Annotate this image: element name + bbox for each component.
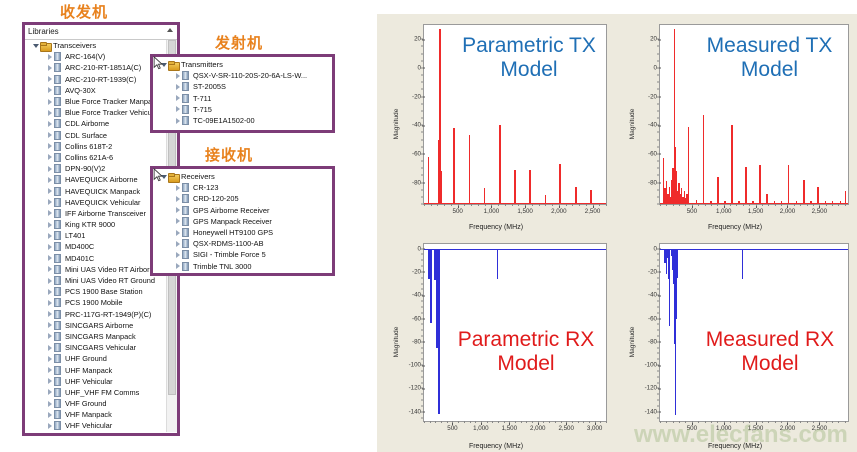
chevron-right-icon[interactable]	[45, 300, 54, 306]
tree-root-transceivers[interactable]: Transceivers	[25, 40, 166, 51]
y-axis-minor-tick	[421, 359, 423, 360]
tree-root-receivers[interactable]: Receivers	[153, 171, 332, 182]
data-spike	[529, 170, 530, 204]
tree-item-label: Collins 618T-2	[65, 141, 112, 152]
chevron-right-icon[interactable]	[173, 252, 182, 258]
x-axis-minor-tick	[559, 204, 560, 206]
tree-item-receiver[interactable]: GPS Manpack Receiver	[153, 216, 332, 227]
y-axis-tick-label: 20	[414, 36, 421, 43]
chart-ylabel: Magnitude	[393, 108, 400, 139]
tree-item-transceiver[interactable]: UHF_VHF FM Comms	[25, 387, 166, 398]
chevron-right-icon[interactable]	[173, 73, 182, 79]
x-axis-minor-tick	[504, 421, 505, 423]
y-axis-minor-tick	[421, 277, 423, 278]
x-axis-minor-tick	[807, 421, 808, 423]
data-spike	[441, 171, 442, 204]
tree-item-transceiver[interactable]: Blue Force Tracker Vehicular	[25, 107, 166, 118]
tree-item-transceiver[interactable]: HAVEQUICK Vehicular	[25, 197, 166, 208]
tree-root-transmitters[interactable]: Transmitters	[153, 59, 332, 70]
tree-item-receiver[interactable]: Honeywell HT9100 GPS	[153, 227, 332, 238]
x-axis-tick-label: 2,500	[812, 208, 827, 215]
tree-item-receiver[interactable]: CRD-120-205	[153, 193, 332, 204]
data-spike	[724, 201, 725, 204]
data-spike	[774, 201, 775, 204]
tree-item-receiver[interactable]: Trimble TNL 3000	[153, 261, 332, 272]
chevron-right-icon[interactable]	[45, 177, 54, 183]
y-axis-minor-tick	[421, 254, 423, 255]
y-axis-minor-tick	[421, 67, 423, 68]
tree-item-label: UHF Ground	[65, 353, 107, 364]
y-axis-minor-tick	[657, 330, 659, 331]
data-spike	[742, 249, 743, 279]
tree-item-transceiver[interactable]: Collins 618T-2	[25, 141, 166, 152]
x-axis-minor-tick	[736, 204, 737, 206]
chevron-right-icon[interactable]	[45, 333, 54, 339]
chevron-right-icon[interactable]	[45, 121, 54, 127]
tree-item-transceiver[interactable]: LT401	[25, 230, 166, 241]
chevron-right-icon[interactable]	[173, 263, 182, 269]
y-axis-tick-label: -80	[648, 338, 657, 345]
tree-item-label: QSX-V-SR-110-20S-20-6A-LS-W...	[193, 70, 307, 81]
tree-item-transceiver[interactable]: CDL Surface	[25, 130, 166, 141]
x-axis-minor-tick	[555, 421, 556, 423]
chevron-up-icon[interactable]	[167, 28, 173, 32]
y-axis-minor-tick	[657, 110, 659, 111]
x-axis-tick-label: 2,000	[530, 425, 545, 432]
x-axis-minor-tick	[526, 421, 527, 423]
tree-item-label: SIGI - Trimble Force 5	[193, 249, 266, 260]
device-icon	[54, 153, 61, 162]
y-axis-minor-tick	[657, 353, 659, 354]
tree-item-transceiver[interactable]: PRC-117G-RT-1949(P)(C)	[25, 309, 166, 320]
y-axis-minor-tick	[657, 175, 659, 176]
tree-root-label: Receivers	[181, 171, 215, 182]
y-axis-minor-tick	[421, 301, 423, 302]
chevron-right-icon[interactable]	[45, 244, 54, 250]
x-axis-minor-tick	[660, 421, 661, 423]
plot-area: 0-20-40-60-80-100-120-1405001,0001,5002,…	[659, 243, 849, 422]
device-icon	[182, 194, 189, 203]
tree-item-label: MD400C	[65, 241, 94, 252]
y-axis-minor-tick	[657, 382, 659, 383]
chevron-right-icon[interactable]	[45, 132, 54, 138]
tree-item-transceiver[interactable]: VHF Vehicular	[25, 420, 166, 431]
y-axis-minor-tick	[657, 75, 659, 76]
y-axis-minor-tick	[421, 370, 423, 371]
chevron-right-icon[interactable]	[45, 345, 54, 351]
x-axis-minor-tick	[606, 421, 607, 423]
chevron-right-icon[interactable]	[45, 65, 54, 71]
y-axis-minor-tick	[657, 417, 659, 418]
data-spike	[545, 195, 546, 204]
chevron-right-icon[interactable]	[45, 389, 54, 395]
x-axis-minor-tick	[444, 204, 445, 206]
tree-item-transceiver[interactable]: VHF Manpack	[25, 409, 166, 420]
chevron-right-icon[interactable]	[45, 401, 54, 407]
tree-item-transceiver[interactable]: Blue Force Tracker Manpack	[25, 96, 166, 107]
tree-item-transceiver[interactable]: MD400C	[25, 241, 166, 252]
data-spike	[514, 170, 515, 204]
y-axis-minor-tick	[421, 110, 423, 111]
chart-ylabel: Magnitude	[629, 326, 636, 357]
tree-item-transceiver[interactable]: AVQ-30X	[25, 85, 166, 96]
y-axis-minor-tick	[421, 405, 423, 406]
chevron-right-icon[interactable]	[45, 412, 54, 418]
y-axis-minor-tick	[657, 189, 659, 190]
y-axis-minor-tick	[421, 182, 423, 183]
device-icon	[182, 183, 189, 192]
y-axis-minor-tick	[421, 175, 423, 176]
chevron-right-icon[interactable]	[173, 230, 182, 236]
y-axis-tick-label: -40	[412, 292, 421, 299]
y-axis-minor-tick	[421, 400, 423, 401]
y-axis-minor-tick	[421, 125, 423, 126]
y-axis-minor-tick	[657, 318, 659, 319]
tree-item-label: GPS Manpack Receiver	[193, 216, 272, 227]
y-axis-minor-tick	[657, 118, 659, 119]
tree-item-label: King KTR 9000	[65, 219, 115, 230]
chevron-right-icon[interactable]	[45, 110, 54, 116]
transmitters-panel: Transmitters QSX-V-SR-110-20S-20-6A-LS-W…	[150, 54, 335, 133]
device-icon	[54, 421, 61, 430]
chevron-right-icon[interactable]	[45, 166, 54, 172]
y-axis-minor-tick	[421, 295, 423, 296]
x-axis-minor-tick	[724, 421, 725, 423]
chevron-right-icon[interactable]	[173, 196, 182, 202]
y-axis-minor-tick	[657, 359, 659, 360]
chevron-right-icon[interactable]	[173, 106, 182, 112]
device-icon	[54, 298, 61, 307]
y-axis-minor-tick	[657, 46, 659, 47]
x-axis-minor-tick	[435, 421, 436, 423]
y-axis-tick-label: -60	[412, 315, 421, 322]
x-axis-minor-tick	[826, 204, 827, 206]
data-spike	[688, 127, 689, 204]
y-axis-minor-tick	[421, 53, 423, 54]
y-axis-minor-tick	[421, 75, 423, 76]
tree-item-transceiver[interactable]: UHF Vehicular	[25, 376, 166, 387]
tree-item-transceiver[interactable]: ARC-210-RT-1851A(C)	[25, 62, 166, 73]
x-axis-minor-tick	[787, 421, 788, 423]
device-icon	[54, 242, 61, 251]
data-spike	[559, 164, 560, 204]
chevron-down-icon[interactable]	[31, 44, 40, 48]
y-axis-minor-tick	[421, 82, 423, 83]
x-axis-minor-tick	[487, 421, 488, 423]
x-axis-minor-tick	[525, 204, 526, 206]
tree-item-transceiver[interactable]: VHF Ground	[25, 398, 166, 409]
tree-item-receiver[interactable]: QSX-RDMS-1100-AB	[153, 238, 332, 249]
y-axis-minor-tick	[421, 388, 423, 389]
data-spike	[453, 128, 454, 204]
device-icon	[182, 239, 189, 248]
data-spike	[738, 201, 739, 204]
x-axis-minor-tick	[430, 421, 431, 423]
tree-item-label: Mini UAS Video RT Airborne	[65, 264, 158, 275]
y-axis-minor-tick	[421, 312, 423, 313]
x-axis-minor-tick	[794, 204, 795, 206]
y-axis-minor-tick	[421, 248, 423, 249]
y-axis-minor-tick	[657, 161, 659, 162]
device-icon	[54, 399, 61, 408]
tree-item-label: T-715	[193, 104, 212, 115]
tree-item-transceiver[interactable]: DPN-90(V)2	[25, 163, 166, 174]
y-axis-minor-tick	[657, 168, 659, 169]
data-spike	[766, 194, 767, 204]
tree-item-label: UHF Vehicular	[65, 376, 113, 387]
device-icon	[54, 276, 61, 285]
x-axis-minor-tick	[498, 421, 499, 423]
chevron-right-icon[interactable]	[173, 118, 182, 124]
tree-item-transceiver[interactable]: UHF Ground	[25, 353, 166, 364]
tree-item-label: VHF Manpack	[65, 409, 112, 420]
chevron-right-icon[interactable]	[45, 222, 54, 228]
tree-item-transmitter[interactable]: T-711	[153, 93, 332, 104]
y-axis-minor-tick	[421, 60, 423, 61]
tree-item-transceiver[interactable]: HAVEQUICK Manpack	[25, 185, 166, 196]
chevron-right-icon[interactable]	[173, 207, 182, 213]
chevron-right-icon[interactable]	[45, 278, 54, 284]
tree-item-label: GPS Airborne Receiver	[193, 205, 269, 216]
y-axis-minor-tick	[421, 283, 423, 284]
y-axis-minor-tick	[657, 370, 659, 371]
y-axis-tick-label: -100	[645, 362, 657, 369]
tree-item-label: Blue Force Tracker Manpack	[65, 96, 159, 107]
tree-item-label: SINCGARS Airborne	[65, 320, 133, 331]
y-axis-tick-label: -80	[412, 338, 421, 345]
x-axis-minor-tick	[756, 421, 757, 423]
x-axis-tick-label: 2,500	[585, 208, 600, 215]
x-axis-minor-tick	[838, 204, 839, 206]
tree-item-transmitter[interactable]: ST-2005S	[153, 81, 332, 92]
tree-item-transceiver[interactable]: ARC-210-RT-1939(C)	[25, 74, 166, 85]
y-axis-minor-tick	[657, 306, 659, 307]
y-axis-minor-tick	[421, 260, 423, 261]
data-spike	[840, 201, 841, 204]
y-axis-minor-tick	[657, 289, 659, 290]
x-axis-minor-tick	[572, 421, 573, 423]
data-spike	[497, 249, 498, 279]
x-axis-tick-label: 500	[447, 425, 457, 432]
plot-area: 200-20-40-60-805001,0001,5002,0002,500	[659, 24, 849, 205]
chevron-right-icon[interactable]	[45, 266, 54, 272]
y-axis-minor-tick	[421, 382, 423, 383]
tree-item-transceiver[interactable]: SINCGARS Vehicular	[25, 342, 166, 353]
chevron-right-icon[interactable]	[45, 255, 54, 261]
device-icon	[54, 220, 61, 229]
chevron-right-icon[interactable]	[45, 311, 54, 317]
x-axis-minor-tick	[464, 204, 465, 206]
tree-item-label: PRC-117G-RT-1949(P)(C)	[65, 309, 151, 320]
tree-item-transceiver[interactable]: IFF Airborne Transceiver	[25, 208, 166, 219]
x-axis-minor-tick	[481, 421, 482, 423]
x-axis-minor-tick	[775, 421, 776, 423]
data-spike	[439, 249, 440, 414]
chevron-right-icon[interactable]	[45, 188, 54, 194]
chevron-right-icon[interactable]	[173, 95, 182, 101]
tree-item-transceiver[interactable]: HAVEQUICK Airborne	[25, 174, 166, 185]
chevron-right-icon[interactable]	[45, 99, 54, 105]
tree-item-label: T-711	[193, 93, 211, 104]
y-axis-minor-tick	[657, 312, 659, 313]
y-axis-minor-tick	[657, 204, 659, 205]
device-icon	[54, 175, 61, 184]
tree-item-transceiver[interactable]: PCS 1900 Mobile	[25, 297, 166, 308]
y-axis-minor-tick	[657, 283, 659, 284]
x-axis-minor-tick	[441, 421, 442, 423]
tree-item-transceiver[interactable]: SINCGARS Airborne	[25, 320, 166, 331]
x-axis-tick-label: 3,000	[587, 425, 602, 432]
tree-item-label: DPN-90(V)2	[65, 163, 105, 174]
y-axis-minor-tick	[657, 139, 659, 140]
x-axis-tick-label: 2,500	[558, 425, 573, 432]
data-spike	[788, 165, 789, 204]
chevron-right-icon[interactable]	[45, 154, 54, 160]
y-axis-tick-label: -20	[412, 268, 421, 275]
chevron-right-icon[interactable]	[45, 143, 54, 149]
y-axis-tick-label: -60	[648, 315, 657, 322]
x-axis-minor-tick	[566, 204, 567, 206]
x-axis-minor-tick	[832, 421, 833, 423]
chart-ylabel: Magnitude	[629, 108, 636, 139]
chevron-right-icon[interactable]	[173, 218, 182, 224]
data-spike	[696, 200, 697, 204]
chevron-right-icon[interactable]	[173, 241, 182, 247]
chevron-right-icon[interactable]	[45, 423, 54, 429]
chevron-right-icon[interactable]	[45, 367, 54, 373]
tree-item-transceiver[interactable]: King KTR 9000	[25, 219, 166, 230]
tree-item-label: Collins 621A-6	[65, 152, 113, 163]
device-icon	[54, 187, 61, 196]
tree-item-label: CDL Surface	[65, 130, 107, 141]
data-spike	[677, 249, 678, 261]
chevron-right-icon[interactable]	[45, 76, 54, 82]
x-axis-minor-tick	[583, 421, 584, 423]
chevron-right-icon[interactable]	[45, 87, 54, 93]
libraries-panel-header[interactable]: Libraries	[25, 25, 177, 40]
x-axis-minor-tick	[813, 204, 814, 206]
chevron-right-icon[interactable]	[173, 84, 182, 90]
x-axis-minor-tick	[464, 421, 465, 423]
tree-root-label: Transceivers	[53, 40, 96, 51]
y-axis-minor-tick	[657, 196, 659, 197]
x-axis-minor-tick	[787, 204, 788, 206]
chevron-right-icon[interactable]	[45, 322, 54, 328]
tree-item-transceiver[interactable]: Mini UAS Video RT Ground	[25, 275, 166, 286]
libraries-tree-region: 收发机 发射机 接收机 Libraries Transceivers ARC-1…	[0, 0, 375, 452]
x-axis-minor-tick	[673, 421, 674, 423]
x-axis-minor-tick	[736, 421, 737, 423]
tree-item-receiver[interactable]: GPS Airborne Receiver	[153, 205, 332, 216]
tree-item-transceiver[interactable]: Collins 621A-6	[25, 152, 166, 163]
y-axis-minor-tick	[657, 260, 659, 261]
y-axis-minor-tick	[421, 411, 423, 412]
tree-item-label: Trimble TNL 3000	[193, 261, 251, 272]
chevron-right-icon[interactable]	[45, 233, 54, 239]
x-axis-minor-tick	[807, 204, 808, 206]
tree-item-transceiver[interactable]: PCS 1900 Base Station	[25, 286, 166, 297]
chart-measured-tx: Magnitude 200-20-40-60-805001,0001,5002,…	[615, 16, 855, 231]
annotation-transmitters: 发射机	[215, 32, 263, 53]
y-axis-minor-tick	[657, 376, 659, 377]
chevron-right-icon[interactable]	[45, 54, 54, 60]
data-spike	[669, 249, 670, 326]
x-axis-minor-tick	[478, 204, 479, 206]
chart-xlabel: Frequency (MHz)	[615, 443, 855, 450]
tree-item-label: VHF Ground	[65, 398, 107, 409]
tree-item-transceiver[interactable]: CDL Airborne	[25, 118, 166, 129]
device-icon	[54, 119, 61, 128]
series-baseline	[424, 249, 606, 250]
chevron-right-icon[interactable]	[45, 378, 54, 384]
tree-item-transmitter[interactable]: QSX-V-SR-110-20S-20-6A-LS-W...	[153, 70, 332, 81]
scroll-down-arrow-icon[interactable]	[167, 422, 177, 432]
libraries-tree: Transceivers ARC-164(V)ARC-210-RT-1851A(…	[25, 40, 166, 432]
tree-item-transceiver[interactable]: Mini UAS Video RT Airborne	[25, 264, 166, 275]
x-axis-minor-tick	[724, 204, 725, 206]
x-axis-tick-label: 1,000	[484, 208, 499, 215]
tree-item-transceiver[interactable]: MD401C	[25, 253, 166, 264]
data-spike	[703, 115, 704, 204]
x-axis-minor-tick	[458, 421, 459, 423]
tree-item-transmitter[interactable]: TC-09E1A1502-00	[153, 115, 332, 126]
x-axis-minor-tick	[679, 421, 680, 423]
y-axis-tick-label: -20	[648, 93, 657, 100]
tree-item-label: ARC-210-RT-1939(C)	[65, 74, 136, 85]
chevron-right-icon[interactable]	[45, 289, 54, 295]
x-axis-tick-label: 1,000	[716, 208, 731, 215]
chevron-right-icon[interactable]	[45, 356, 54, 362]
series-baseline	[660, 249, 848, 250]
tree-item-receiver[interactable]: CR-123	[153, 182, 332, 193]
data-spike	[484, 188, 485, 204]
y-axis-minor-tick	[421, 306, 423, 307]
device-icon	[54, 321, 61, 330]
tree-item-transceiver[interactable]: ARC-164(V)	[25, 51, 166, 62]
chart-xlabel: Frequency (MHz)	[379, 443, 613, 450]
x-axis-minor-tick	[794, 421, 795, 423]
x-axis-minor-tick	[800, 204, 801, 206]
tree-root-label: Transmitters	[181, 59, 223, 70]
plot-area: 0-20-40-60-80-100-120-1405001,0001,5002,…	[423, 243, 607, 422]
chevron-right-icon[interactable]	[45, 199, 54, 205]
x-axis-minor-tick	[600, 421, 601, 423]
data-spike	[845, 191, 846, 204]
tree-item-transmitter[interactable]: T-715	[153, 104, 332, 115]
y-axis-tick-label: -80	[412, 179, 421, 186]
tree-item-label: QSX-RDMS-1100-AB	[193, 238, 264, 249]
device-icon	[182, 82, 189, 91]
x-axis-tick-label: 500	[453, 208, 463, 215]
x-axis-minor-tick	[679, 204, 680, 206]
tree-item-receiver[interactable]: SIGI - Trimble Force 5	[153, 249, 332, 260]
data-spike	[832, 201, 833, 204]
tree-item-transceiver[interactable]: UHF Manpack	[25, 364, 166, 375]
x-axis-minor-tick	[819, 204, 820, 206]
device-icon	[54, 287, 61, 296]
tree-item-transceiver[interactable]: SINCGARS Manpack	[25, 331, 166, 342]
y-axis-minor-tick	[421, 271, 423, 272]
y-axis-minor-tick	[657, 266, 659, 267]
device-icon	[54, 366, 61, 375]
y-axis-tick-label: -40	[412, 122, 421, 129]
x-axis-minor-tick	[521, 421, 522, 423]
chevron-right-icon[interactable]	[45, 210, 54, 216]
chevron-right-icon[interactable]	[173, 185, 182, 191]
y-axis-minor-tick	[421, 347, 423, 348]
tree-item-label: Mini UAS Video RT Ground	[65, 275, 155, 286]
annotation-transceivers: 收发机	[60, 1, 108, 22]
